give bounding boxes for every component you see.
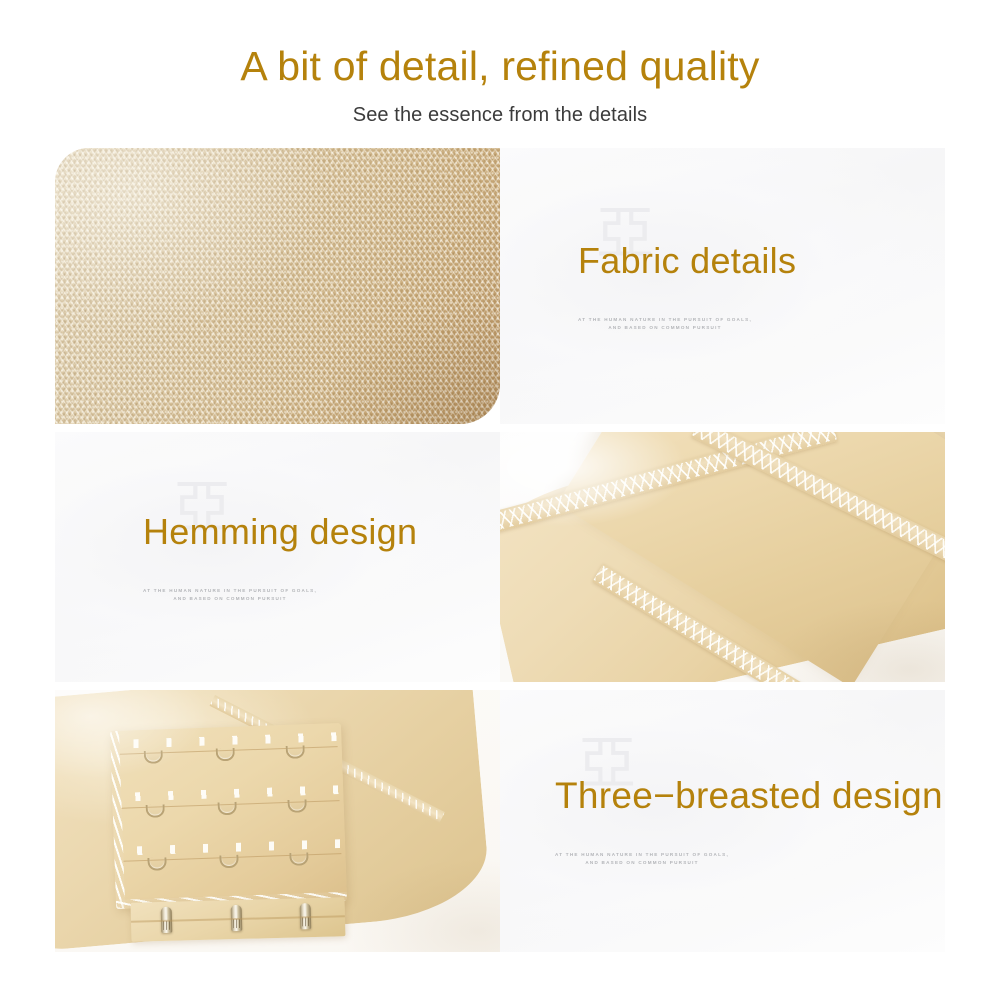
detail-panel-list: 亞 Fabric details AT THE HUMAN NATURE IN … <box>55 148 945 960</box>
hemming-text-panel: 亞 Hemming design AT THE HUMAN NATURE IN … <box>55 432 500 682</box>
eye-tape-three-rows <box>110 723 347 909</box>
stitch-marks-row-1 <box>119 732 338 749</box>
caption-line-1: AT THE HUMAN NATURE IN THE PURSUIT OF GO… <box>555 852 729 857</box>
fabric-photo-cell <box>55 148 500 424</box>
eyelet <box>147 857 166 871</box>
hook-and-eye-photo <box>55 690 500 952</box>
fabric-texture-photo <box>55 148 500 424</box>
eyelet <box>289 852 308 866</box>
page-title: A bit of detail, refined quality <box>0 42 1000 90</box>
panel-heading-fabric: Fabric details <box>578 240 796 282</box>
product-detail-banner: A bit of detail, refined quality See the… <box>0 0 1000 1000</box>
panel-heading-hemming: Hemming design <box>143 511 417 553</box>
hook-band <box>130 897 345 942</box>
metal-hook <box>231 904 243 930</box>
hemmed-edge-photo <box>500 432 945 682</box>
caption-line-1: AT THE HUMAN NATURE IN THE PURSUIT OF GO… <box>143 588 317 593</box>
eyelet <box>144 750 163 764</box>
panel-heading-closure: Three−breasted design <box>555 775 943 817</box>
detail-row-hemming: 亞 Hemming design AT THE HUMAN NATURE IN … <box>55 432 945 682</box>
metal-hook <box>160 906 172 932</box>
closure-text-cell: 亞 Three−breasted design AT THE HUMAN NAT… <box>500 690 945 952</box>
caption-line-1: AT THE HUMAN NATURE IN THE PURSUIT OF GO… <box>578 317 752 322</box>
page-subtitle: See the essence from the details <box>0 102 1000 128</box>
caption-line-2: AND BASED ON COMMON PURSUIT <box>578 324 752 332</box>
eyelet <box>145 803 164 817</box>
eyelet <box>216 748 235 762</box>
fabric-sheen-overlay <box>55 148 500 424</box>
caption-line-2: AND BASED ON COMMON PURSUIT <box>143 595 317 603</box>
panel-caption-hemming: AT THE HUMAN NATURE IN THE PURSUIT OF GO… <box>143 587 317 603</box>
fabric-text-cell: 亞 Fabric details AT THE HUMAN NATURE IN … <box>500 148 945 424</box>
detail-row-closure: 亞 Three−breasted design AT THE HUMAN NAT… <box>55 690 945 952</box>
banner-header: A bit of detail, refined quality See the… <box>0 0 1000 128</box>
caption-line-2: AND BASED ON COMMON PURSUIT <box>555 859 729 867</box>
closure-text-panel: 亞 Three−breasted design AT THE HUMAN NAT… <box>500 690 945 952</box>
eyelet <box>217 801 236 815</box>
eyelet <box>285 745 304 759</box>
closure-photo-cell <box>55 690 500 952</box>
panel-caption-fabric: AT THE HUMAN NATURE IN THE PURSUIT OF GO… <box>578 316 752 332</box>
metal-hook <box>299 902 311 928</box>
hemming-photo-cell <box>500 432 945 682</box>
eyelet <box>287 799 306 813</box>
hemming-text-cell: 亞 Hemming design AT THE HUMAN NATURE IN … <box>55 432 500 682</box>
detail-row-fabric: 亞 Fabric details AT THE HUMAN NATURE IN … <box>55 148 945 424</box>
eyelet <box>219 854 238 868</box>
fabric-text-panel: 亞 Fabric details AT THE HUMAN NATURE IN … <box>500 148 945 424</box>
panel-caption-closure: AT THE HUMAN NATURE IN THE PURSUIT OF GO… <box>555 851 729 867</box>
